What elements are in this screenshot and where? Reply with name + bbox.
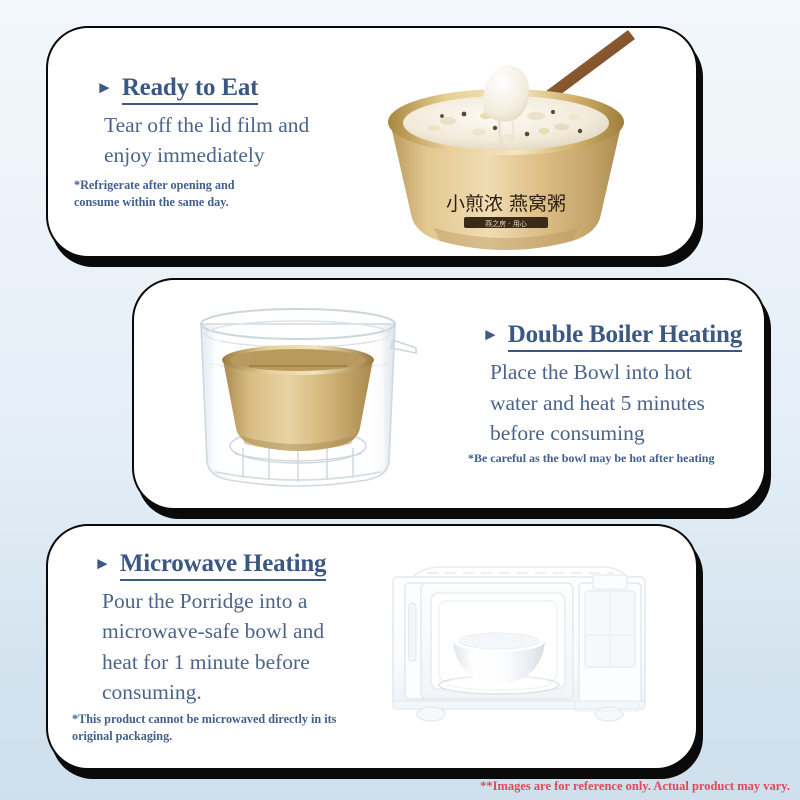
- section-body: Pour the Porridge into a microwave-safe …: [102, 586, 336, 708]
- text-column: ► Ready to Eat Tear off the lid film and…: [48, 74, 315, 211]
- illustration-column: [342, 526, 696, 768]
- heading-row: ► Double Boiler Heating: [482, 321, 742, 352]
- text-column: ► Double Boiler Heating Place the Bowl i…: [462, 321, 764, 466]
- triangle-bullet-icon: ►: [96, 79, 113, 96]
- double-boiler-pot-image: [179, 296, 417, 492]
- section-footnote: *This product cannot be microwaved direc…: [72, 711, 336, 745]
- section-body: Place the Bowl into hot water and heat 5…: [490, 357, 742, 449]
- section-heading: Ready to Eat: [122, 74, 258, 105]
- illustration-column: [134, 280, 462, 508]
- section-card-ready-to-eat: ► Ready to Eat Tear off the lid film and…: [46, 26, 698, 258]
- heading-row: ► Microwave Heating: [94, 550, 336, 581]
- section-card-double-boiler: ► Double Boiler Heating Place the Bowl i…: [132, 278, 766, 510]
- card-content: ► Ready to Eat Tear off the lid film and…: [48, 28, 696, 256]
- microwave-oven-image: [383, 559, 655, 735]
- triangle-bullet-icon: ►: [94, 555, 111, 572]
- bowl-label-cn: 小煎浓 燕窝粥: [446, 193, 566, 215]
- section-footnote: *Be careful as the bowl may be hot after…: [468, 450, 742, 467]
- text-column: ► Microwave Heating Pour the Porridge in…: [48, 550, 342, 745]
- section-heading: Microwave Heating: [120, 550, 327, 581]
- section-footnote: *Refrigerate after opening and consume w…: [74, 177, 309, 211]
- reference-disclaimer: **Images are for reference only. Actual …: [480, 779, 790, 794]
- bowl-sublabel-cn: 燕之房 · 用心: [485, 219, 527, 228]
- instruction-infographic: ► Ready to Eat Tear off the lid film and…: [0, 0, 800, 800]
- section-body: Tear off the lid film and enjoy immediat…: [104, 110, 309, 171]
- section-heading: Double Boiler Heating: [508, 321, 742, 352]
- card-content: ► Microwave Heating Pour the Porridge in…: [48, 526, 696, 768]
- section-card-microwave: ► Microwave Heating Pour the Porridge in…: [46, 524, 698, 770]
- heading-row: ► Ready to Eat: [96, 74, 309, 105]
- triangle-bullet-icon: ►: [482, 326, 499, 343]
- illustration-column: 小煎浓 燕窝粥 燕之房 · 用心: [315, 28, 696, 256]
- card-content: ► Double Boiler Heating Place the Bowl i…: [134, 280, 764, 508]
- gold-bowl-with-spoon-image: 小煎浓 燕窝粥 燕之房 · 用心: [376, 28, 636, 256]
